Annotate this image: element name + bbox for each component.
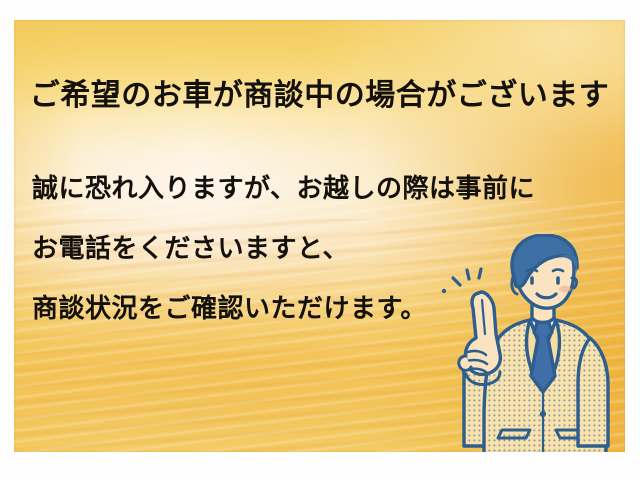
pointing-hand: [459, 292, 501, 385]
right-sleeve: [578, 338, 608, 446]
gold-gradient-panel: ご希望のお車が商談中の場合がございます 誠に恐れ入りますが、お越しの際は事前に …: [14, 20, 625, 452]
cheek-blush: [559, 286, 571, 293]
page-title: ご希望のお車が商談中の場合がございます: [14, 70, 625, 114]
sparkle-marks: [442, 269, 481, 293]
jacket-button: [540, 411, 546, 417]
businessman-pointing-icon: [438, 234, 625, 452]
notice-body-line-1: 誠に恐れ入りますが、お越しの際は事前に: [32, 166, 607, 226]
necktie: [531, 320, 555, 392]
notice-poster: ご希望のお車が商談中の場合がございます 誠に恐れ入りますが、お越しの際は事前に …: [0, 0, 640, 480]
